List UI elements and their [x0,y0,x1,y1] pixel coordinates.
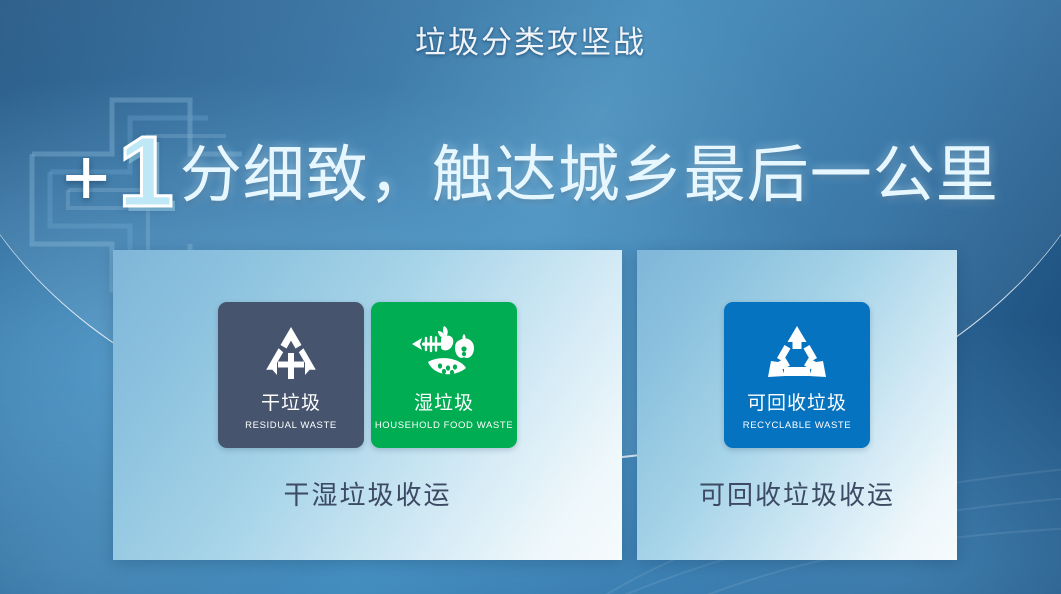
tile-row-right: 可回收垃圾 RECYCLABLE WASTE [637,302,957,448]
tile-label-en: HOUSEHOLD FOOD WASTE [375,419,513,432]
tile-label-cn: 可回收垃圾 [747,392,847,416]
tile-label-cn: 干垃圾 [261,392,321,416]
tile-label-en: RECYCLABLE WASTE [743,419,852,432]
headline-text: 分细致，触达城乡最后一公里 [180,140,999,212]
card-recyclable-waste-collection[interactable]: 可回收垃圾 RECYCLABLE WASTE 可回收垃圾收运 [637,250,957,560]
tile-label-en: RESIDUAL WASTE [245,419,337,432]
tile-household-food-waste[interactable]: 湿垃圾 HOUSEHOLD FOOD WASTE [371,302,517,448]
recycle-icon [765,318,829,388]
headline: + 1 分细致，触达城乡最后一公里 [0,128,1061,224]
card-caption: 干湿垃圾收运 [113,478,622,512]
card-dry-wet-waste-collection[interactable]: 干垃圾 RESIDUAL WASTE [113,250,622,560]
tile-recyclable-waste[interactable]: 可回收垃圾 RECYCLABLE WASTE [724,302,870,448]
cards-container: 干垃圾 RESIDUAL WASTE [0,0,1061,594]
food-waste-icon [408,318,480,388]
residual-waste-icon [260,318,322,388]
page-title: 垃圾分类攻坚战 [0,22,1061,64]
tile-row-left: 干垃圾 RESIDUAL WASTE [113,302,622,448]
card-caption: 可回收垃圾收运 [637,478,957,512]
tile-residual-waste[interactable]: 干垃圾 RESIDUAL WASTE [218,302,364,448]
headline-number-one: 1 [118,124,174,220]
headline-plus-sign: + [62,137,110,219]
presentation-slide: 垃圾分类攻坚战 + 1 分细致，触达城乡最后一公里 [0,0,1061,594]
tile-label-cn: 湿垃圾 [414,392,474,416]
